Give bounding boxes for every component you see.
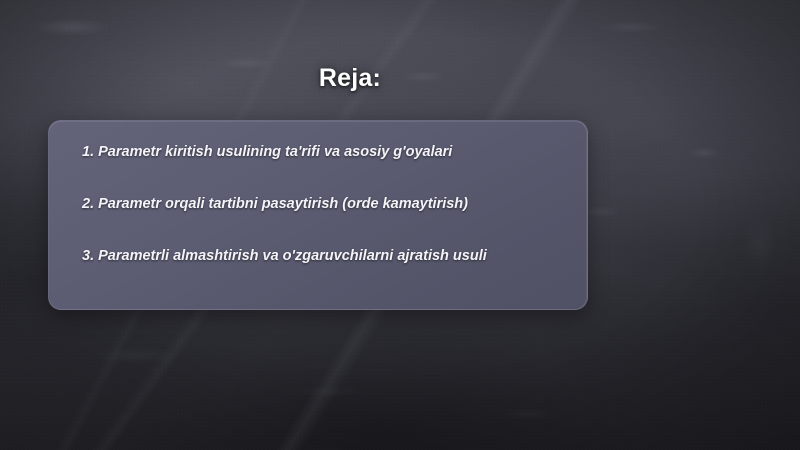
page-title: Reja: — [0, 64, 700, 93]
slide-canvas: Reja: 1. Parametr kiritish usulining ta'… — [0, 0, 800, 450]
list-item: 3. Parametrli almashtirish va o'zgaruvch… — [82, 247, 557, 265]
list-item: 2. Parametr orqali tartibni pasaytirish … — [82, 195, 557, 213]
list-item: 1. Parametr kiritish usulining ta'rifi v… — [82, 143, 557, 161]
agenda-panel: 1. Parametr kiritish usulining ta'rifi v… — [48, 120, 588, 310]
